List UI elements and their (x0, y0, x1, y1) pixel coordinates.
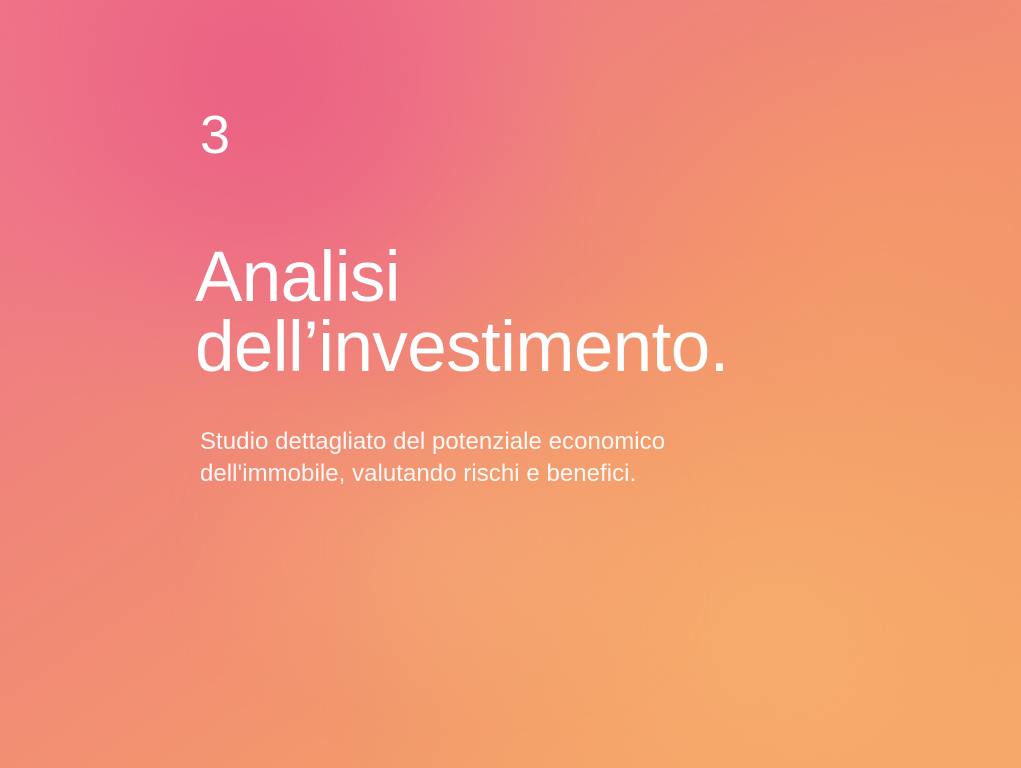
slide-content: 3 Analisi dell’investimento. Studio dett… (200, 0, 960, 768)
slide-title: Analisi dell’investimento. (195, 243, 729, 383)
section-number: 3 (200, 108, 230, 162)
presentation-slide: 3 Analisi dell’investimento. Studio dett… (0, 0, 1021, 768)
slide-subtitle: Studio dettagliato del potenziale econom… (200, 426, 665, 490)
